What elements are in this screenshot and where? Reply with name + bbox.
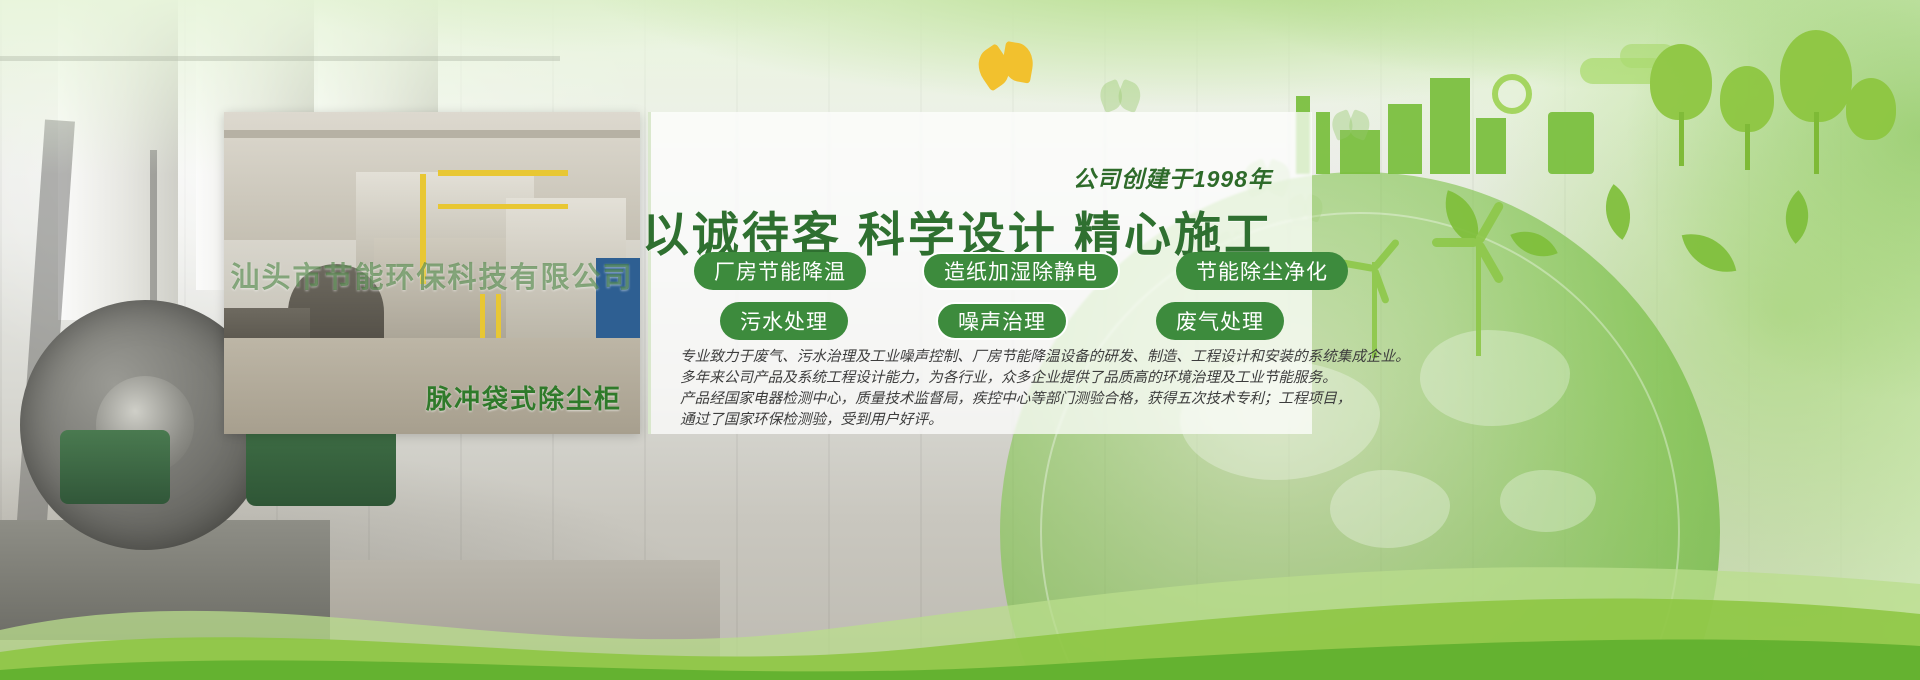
tree-icon xyxy=(1650,44,1712,120)
windmill-blade xyxy=(1371,238,1400,271)
tree-trunk xyxy=(1679,112,1684,166)
eco-city-skyline-icon xyxy=(1280,0,1920,470)
project-photo-card: 汕头市节能环保科技有限公司 脉冲袋式除尘柜 xyxy=(224,112,640,434)
photo-watermark: 汕头市节能环保科技有限公司 xyxy=(224,254,640,296)
tree-icon xyxy=(1780,30,1852,122)
building-icon xyxy=(1388,104,1422,174)
tree-trunk xyxy=(1814,112,1819,174)
service-tag-row: 污水处理 噪声治理 废气处理 xyxy=(694,302,1294,340)
photo-rail xyxy=(438,170,568,176)
service-tag-noise-control[interactable]: 噪声治理 xyxy=(936,302,1068,340)
description-line: 通过了国家环保检测验，受到用户好评。 xyxy=(680,410,1306,431)
tree-icon xyxy=(1720,66,1774,132)
windmill-blade xyxy=(1474,200,1505,244)
service-tag-exhaust-gas[interactable]: 废气处理 xyxy=(1156,302,1284,340)
sun-icon xyxy=(1492,74,1532,114)
chimney-icon xyxy=(1316,112,1330,174)
eyebrow-text: 公司创建于1998年 xyxy=(1073,160,1272,194)
company-description: 专业致力于废气、污水治理及工业噪声控制、厂房节能降温设备的研发、制造、工程设计和… xyxy=(680,347,1306,431)
service-tag-list: 厂房节能降温 造纸加湿除静电 节能除尘净化 污水处理 噪声治理 废气处理 xyxy=(694,252,1294,352)
leaf-icon xyxy=(1510,220,1558,268)
building-icon xyxy=(1476,118,1506,174)
leaf-icon xyxy=(1770,190,1824,244)
description-line: 多年来公司产品及系统工程设计能力，为各行业，众多企业提供了品质高的环境治理及工业… xyxy=(680,368,1306,389)
building-icon xyxy=(1430,78,1470,174)
windmill-blade xyxy=(1432,238,1478,247)
photo-building-edge xyxy=(224,130,640,138)
service-tag-paper-humidify[interactable]: 造纸加湿除静电 xyxy=(922,252,1120,290)
building-icon xyxy=(1548,112,1594,174)
service-tag-row: 厂房节能降温 造纸加湿除静电 节能除尘净化 xyxy=(694,252,1294,290)
photo-rail xyxy=(438,204,568,209)
service-tag-dust-purification[interactable]: 节能除尘净化 xyxy=(1176,252,1348,290)
service-tag-sewage-treatment[interactable]: 污水处理 xyxy=(720,302,848,340)
photo-caption: 脉冲袋式除尘柜 xyxy=(426,379,622,416)
hero-banner: 汕头市节能环保科技有限公司 脉冲袋式除尘柜 公司创建于1998年 以诚待客 科学… xyxy=(0,0,1920,680)
background-motor xyxy=(60,430,170,504)
leaf-icon xyxy=(1590,184,1646,240)
description-line: 专业致力于废气、污水治理及工业噪声控制、厂房节能降温设备的研发、制造、工程设计和… xyxy=(680,347,1306,368)
leaf-icon xyxy=(1682,226,1737,281)
content-panel-edge xyxy=(648,112,651,434)
service-tag-factory-cooling[interactable]: 厂房节能降温 xyxy=(694,252,866,290)
description-line: 产品经国家电器检测中心，质量技术监督局，疾控中心等部门测验合格，获得五次技术专利… xyxy=(680,389,1306,410)
tree-icon xyxy=(1846,78,1896,140)
tree-trunk xyxy=(1745,124,1750,170)
